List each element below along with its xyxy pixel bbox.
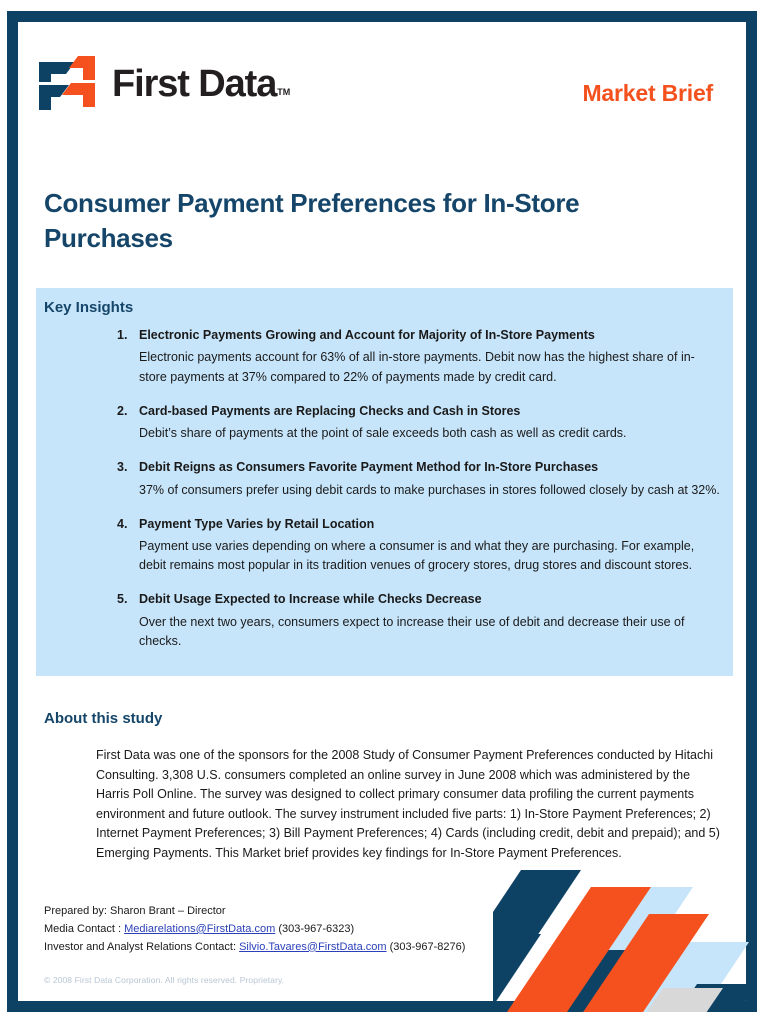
list-item-number: 5. — [117, 590, 139, 651]
key-insights-heading: Key Insights — [44, 299, 133, 316]
document-type-label: Market Brief — [582, 80, 713, 107]
list-item-body: Electronic Payments Growing and Account … — [139, 326, 722, 387]
list-item: 4. Payment Type Varies by Retail Locatio… — [117, 515, 722, 576]
decorative-stripes-graphic — [493, 862, 757, 1012]
page-title: Consumer Payment Preferences for In-Stor… — [44, 186, 704, 257]
about-study-heading: About this study — [44, 710, 162, 727]
media-contact-line: Media Contact : Mediarelations@FirstData… — [44, 921, 514, 939]
investor-email-link[interactable]: Silvio.Tavares@FirstData.com — [239, 941, 386, 953]
list-item-number: 4. — [117, 515, 139, 576]
list-item-number: 2. — [117, 402, 139, 444]
list-item-text: 37% of consumers prefer using debit card… — [139, 481, 722, 500]
first-data-wordmark: First DataTM — [112, 65, 290, 103]
about-study-text: First Data was one of the sponsors for t… — [96, 746, 720, 863]
list-item: 1. Electronic Payments Growing and Accou… — [117, 326, 722, 387]
first-data-logo-mark-icon — [37, 52, 99, 114]
trademark-symbol: TM — [277, 87, 290, 97]
list-item-number: 3. — [117, 458, 139, 500]
investor-contact-label: Investor and Analyst Relations Contact: — [44, 941, 239, 953]
list-item-number: 1. — [117, 326, 139, 387]
list-item: 3. Debit Reigns as Consumers Favorite Pa… — [117, 458, 722, 500]
list-item-title: Electronic Payments Growing and Account … — [139, 326, 722, 345]
media-phone: (303-967-6323) — [275, 923, 354, 935]
list-item-text: Over the next two years, consumers expec… — [139, 613, 722, 651]
list-item: 5. Debit Usage Expected to Increase whil… — [117, 590, 722, 651]
media-email-link[interactable]: Mediarelations@FirstData.com — [124, 923, 275, 935]
prepared-by-line: Prepared by: Sharon Brant – Director — [44, 903, 514, 921]
list-item-body: Debit Usage Expected to Increase while C… — [139, 590, 722, 651]
investor-contact-line: Investor and Analyst Relations Contact: … — [44, 939, 514, 957]
media-contact-label: Media Contact : — [44, 923, 124, 935]
contact-block: Prepared by: Sharon Brant – Director Med… — [44, 903, 514, 956]
list-item-title: Debit Usage Expected to Increase while C… — [139, 590, 722, 609]
copyright-notice: © 2008 First Data Corporation. All right… — [44, 975, 284, 985]
list-item-title: Card-based Payments are Replacing Checks… — [139, 402, 722, 421]
investor-phone: (303-967-8276) — [387, 941, 466, 953]
list-item-text: Electronic payments account for 63% of a… — [139, 348, 722, 386]
key-insights-list: 1. Electronic Payments Growing and Accou… — [117, 326, 722, 666]
list-item-body: Payment Type Varies by Retail Location P… — [139, 515, 722, 576]
list-item-body: Card-based Payments are Replacing Checks… — [139, 402, 722, 444]
list-item-body: Debit Reigns as Consumers Favorite Payme… — [139, 458, 722, 500]
list-item-title: Payment Type Varies by Retail Location — [139, 515, 722, 534]
document-header: First DataTM Market Brief — [37, 46, 713, 138]
list-item-title: Debit Reigns as Consumers Favorite Payme… — [139, 458, 722, 477]
first-data-logo: First DataTM — [37, 52, 290, 114]
document-page: First DataTM Market Brief Consumer Payme… — [0, 0, 770, 1024]
list-item-text: Payment use varies depending on where a … — [139, 537, 722, 575]
list-item: 2. Card-based Payments are Replacing Che… — [117, 402, 722, 444]
list-item-text: Debit’s share of payments at the point o… — [139, 424, 722, 443]
key-insights-panel: Key Insights 1. Electronic Payments Grow… — [36, 288, 733, 676]
